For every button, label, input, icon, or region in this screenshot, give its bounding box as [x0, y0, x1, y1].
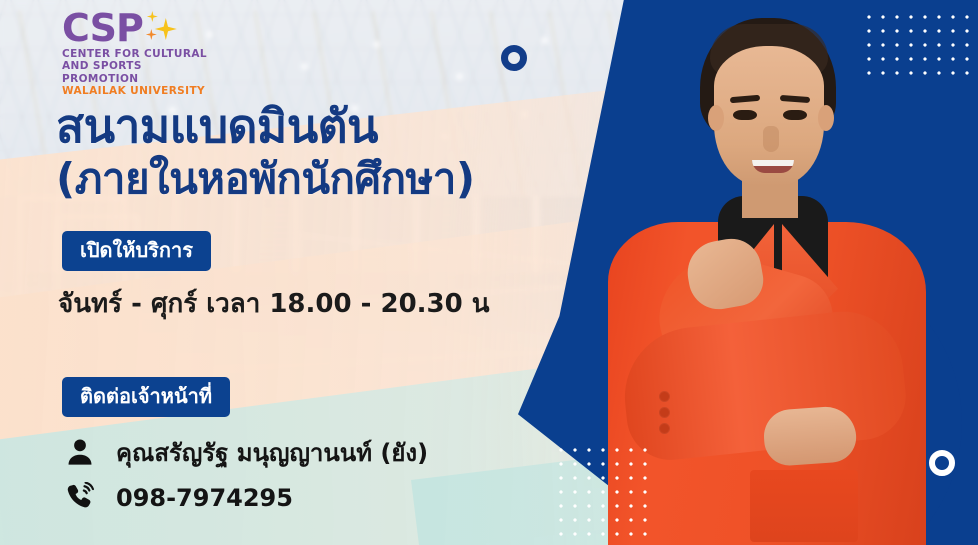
phone-ringing-icon [60, 478, 100, 518]
nose [763, 126, 779, 152]
eye-right [783, 110, 807, 120]
jacket-button [660, 408, 669, 417]
mouth [752, 160, 794, 173]
contact-phone-row: 098-7974295 [60, 478, 293, 518]
schedule-text: จันทร์ - ศุกร์ เวลา 18.00 - 20.30 น [58, 283, 490, 324]
status-badge-open: เปิดให้บริการ [62, 231, 211, 271]
contact-person-row: คุณสรัญรัฐ มนุญญานนท์ (ยัง) [60, 432, 428, 472]
eye-left [733, 110, 757, 120]
status-badge-contact: ติดต่อเจ้าหน้าที่ [62, 377, 230, 417]
ear-left [708, 105, 724, 131]
jacket-button [660, 392, 669, 401]
contact-person-name: คุณสรัญรัฐ มนุญญานนท์ (ยัง) [116, 433, 428, 472]
promo-banner: CSP CENTER FOR CULTURAL AND SPORTS PROMO… [0, 0, 978, 545]
ring-circle-bottom-right [929, 450, 955, 476]
jacket-button [660, 424, 669, 433]
user-icon [60, 432, 100, 472]
contact-phone-number: 098-7974295 [116, 484, 293, 512]
hand-lower [762, 405, 858, 467]
headline-line-2: (ภายในหอพักนักศึกษา) [56, 158, 475, 200]
ear-right [818, 105, 834, 131]
headline-line-1: สนามแบดมินตัน [56, 99, 378, 153]
jacket-pocket [750, 470, 858, 542]
page-title: สนามแบดมินตัน (ภายในหอพักนักศึกษา) [56, 103, 475, 200]
dot-grid-top-right [860, 8, 978, 80]
banner-content: สนามแบดมินตัน (ภายในหอพักนักศึกษา) เปิดใ… [0, 0, 600, 545]
